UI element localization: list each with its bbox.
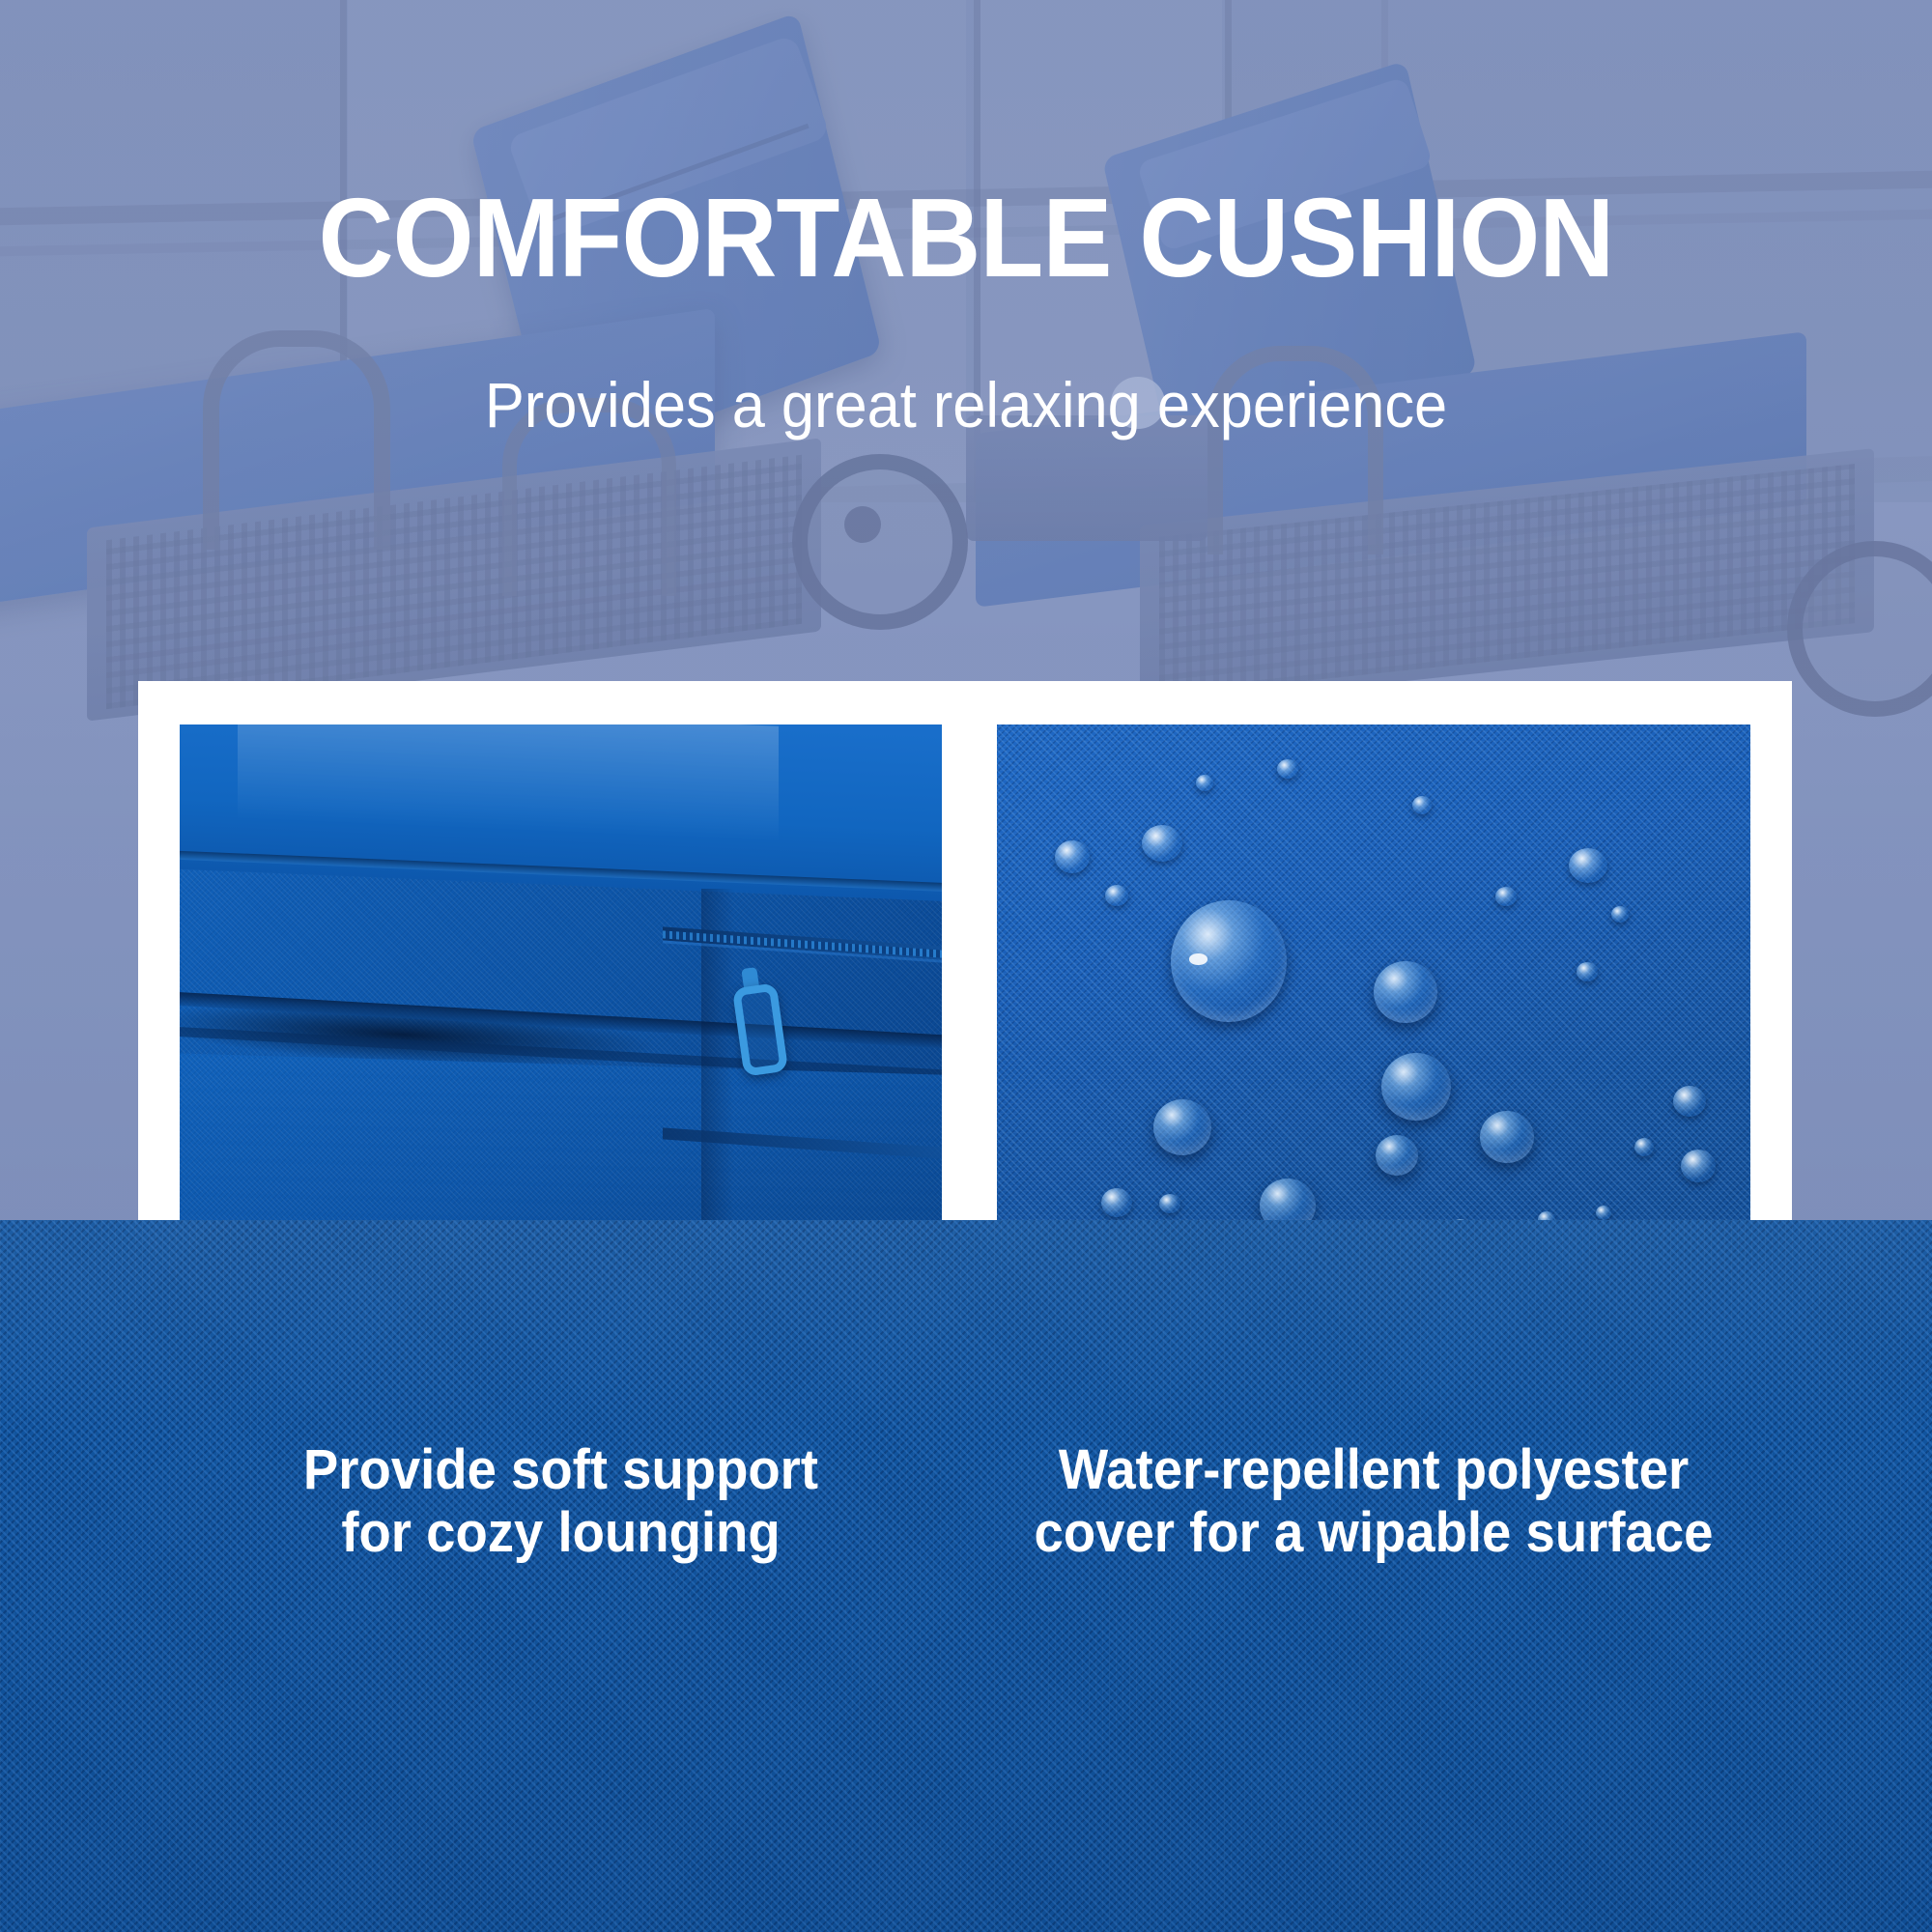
droplet-specular-highlight (1189, 953, 1207, 964)
water-droplet (1381, 1053, 1451, 1121)
caption-line-2: cover for a wipable surface (1019, 1502, 1727, 1565)
water-droplet (1153, 1099, 1211, 1155)
water-droplet-small (1495, 887, 1517, 906)
bottom-panel-shading (0, 1220, 1932, 1932)
water-droplet-small (1277, 759, 1298, 779)
bottom-fabric-panel (0, 1220, 1932, 1932)
water-droplet-small (1577, 962, 1598, 981)
water-droplet (1376, 1135, 1418, 1176)
water-droplet-small (1673, 1086, 1706, 1117)
water-droplet-small (1196, 775, 1213, 791)
water-droplet-large (1171, 900, 1287, 1022)
water-droplet-small (1634, 1138, 1654, 1156)
caption-line-1: Provide soft support (203, 1439, 920, 1502)
page-title: COMFORTABLE CUSHION (68, 182, 1864, 294)
water-droplet (1480, 1111, 1534, 1163)
water-droplet-small (1681, 1150, 1716, 1182)
water-droplet-small (1055, 840, 1090, 873)
feature-caption-soft-support: Provide soft support for cozy lounging (203, 1439, 920, 1565)
water-droplet-small (1159, 1194, 1180, 1213)
caption-line-1: Water-repellent polyester (1019, 1439, 1727, 1502)
marketing-infographic: COMFORTABLE CUSHION Provides a great rel… (0, 0, 1932, 1932)
page-subtitle: Provides a great relaxing experience (68, 373, 1864, 437)
water-droplet-small (1101, 1188, 1132, 1217)
water-droplet-small (1596, 1206, 1611, 1220)
caption-line-2: for cozy lounging (203, 1502, 920, 1565)
water-droplet-small (1105, 885, 1128, 906)
water-droplet-small (1412, 796, 1432, 814)
water-droplet-small (1142, 825, 1182, 862)
water-droplet-small (1569, 848, 1607, 883)
water-droplet (1374, 961, 1437, 1023)
feature-caption-water-repellent: Water-repellent polyester cover for a wi… (1019, 1439, 1727, 1565)
water-droplet-small (1611, 906, 1629, 923)
